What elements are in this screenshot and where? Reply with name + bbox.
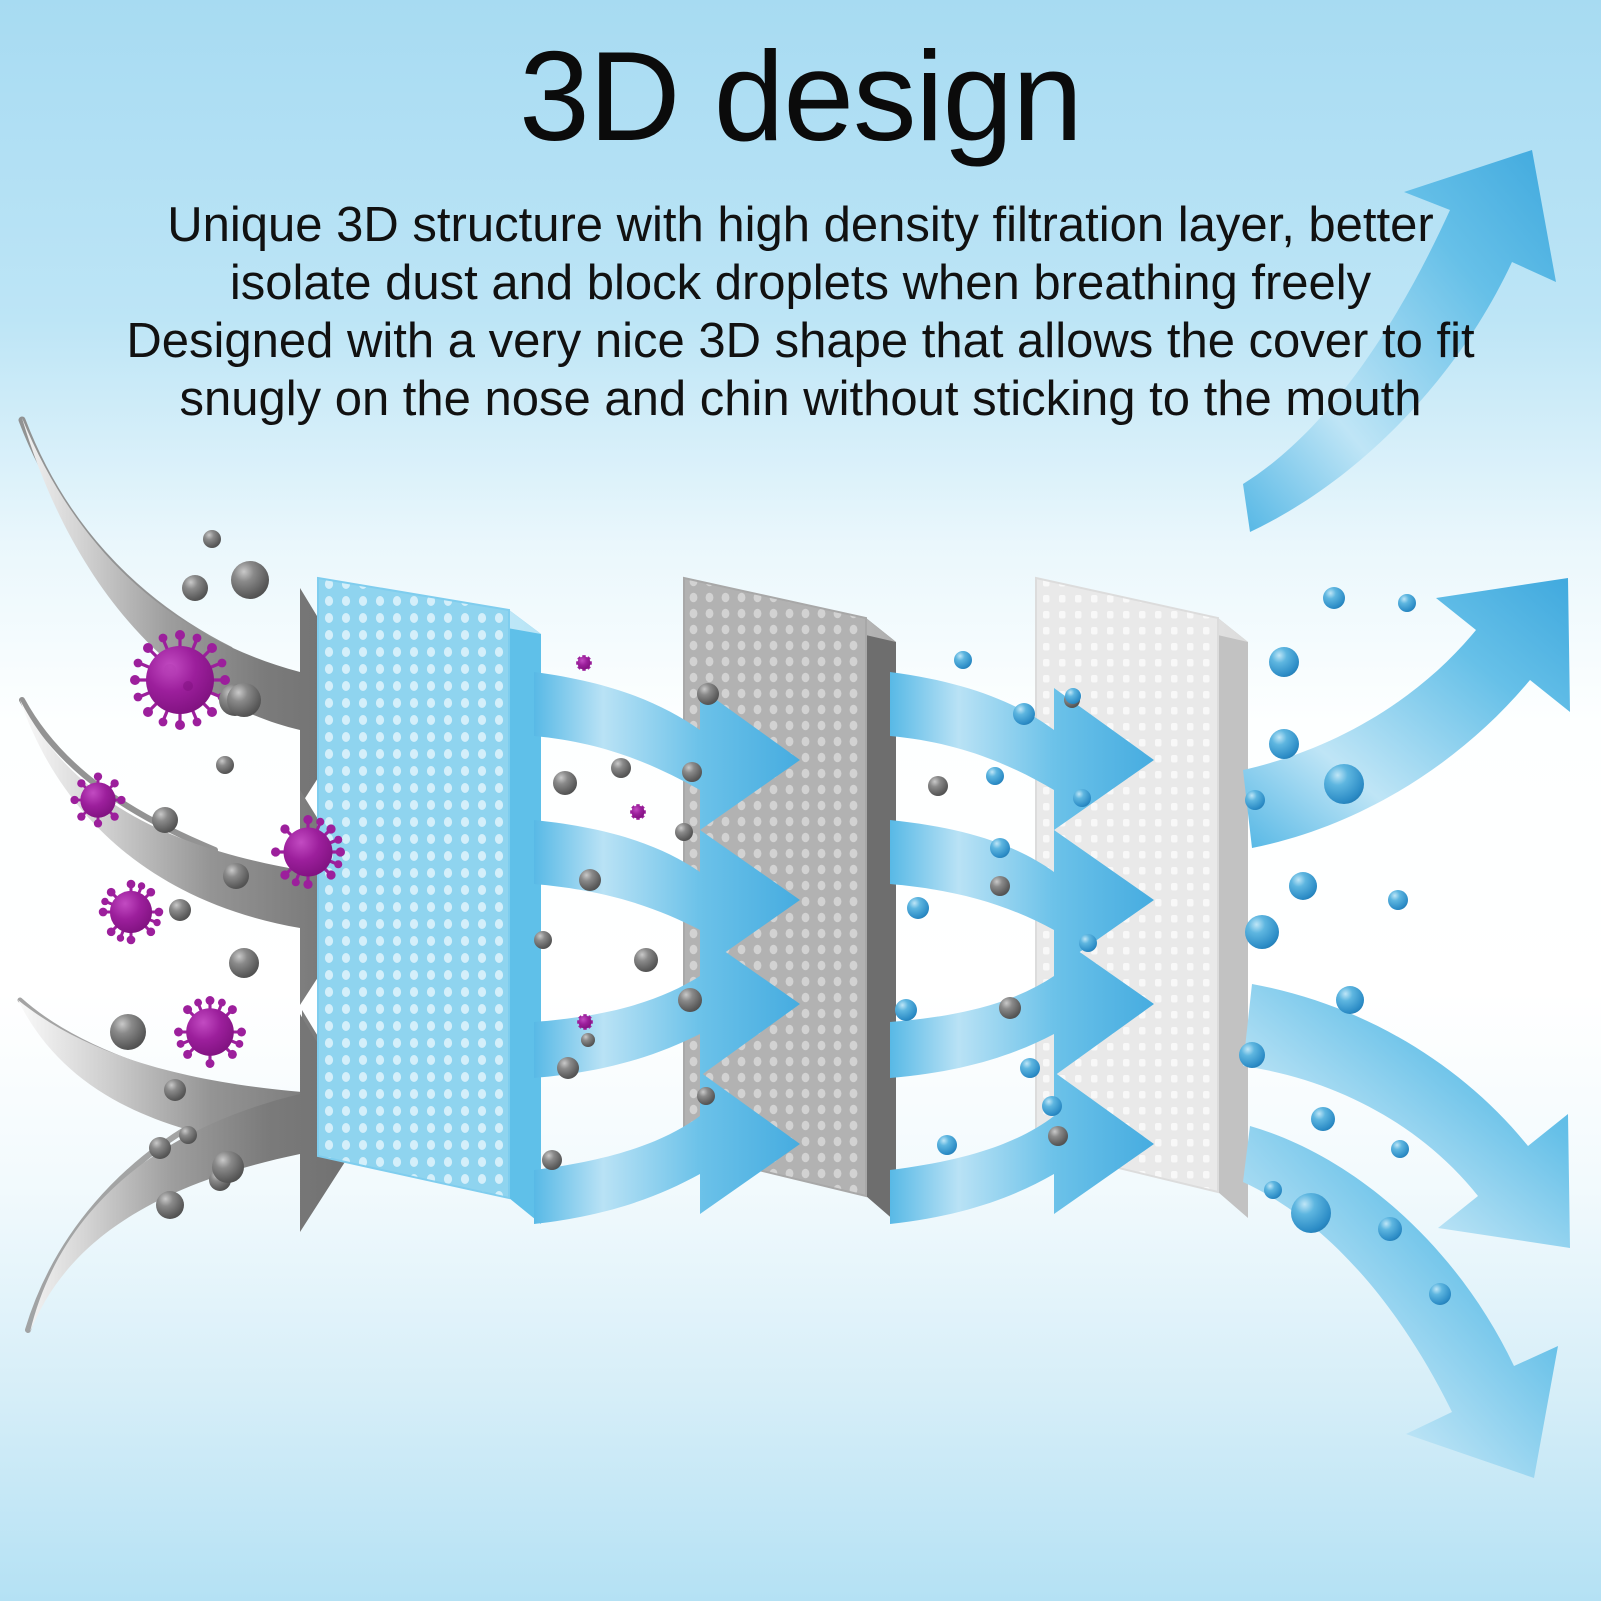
dust-particle bbox=[675, 823, 693, 841]
dust-particle bbox=[557, 1057, 579, 1079]
dust-particle bbox=[229, 948, 259, 978]
dust-particle bbox=[611, 758, 631, 778]
dust-particle bbox=[990, 876, 1010, 896]
dust-particle bbox=[223, 863, 249, 889]
dust-particle bbox=[697, 683, 719, 705]
droplet-particle bbox=[1013, 703, 1035, 725]
dust-particle bbox=[542, 1150, 562, 1170]
droplet-particle bbox=[1398, 594, 1416, 612]
dust-particle bbox=[152, 807, 178, 833]
droplet-particle bbox=[990, 838, 1010, 858]
virus-particle bbox=[271, 815, 345, 889]
droplet-particle bbox=[1020, 1058, 1040, 1078]
dust-particle bbox=[227, 683, 261, 717]
droplet-particle bbox=[1429, 1283, 1451, 1305]
droplet-particle bbox=[1269, 647, 1299, 677]
dust-particle bbox=[534, 931, 552, 949]
droplet-particle bbox=[895, 999, 917, 1021]
droplet-particle bbox=[1245, 790, 1265, 810]
dust-particle bbox=[928, 776, 948, 796]
page-title: 3D design bbox=[0, 30, 1601, 163]
virus-particle bbox=[70, 772, 125, 827]
droplet-particle bbox=[1323, 587, 1345, 609]
dust-particle bbox=[169, 899, 191, 921]
dust-particle bbox=[216, 756, 234, 774]
droplet-particle bbox=[1311, 1107, 1335, 1131]
infographic-root: 3D design Unique 3D structure with high … bbox=[0, 0, 1601, 1601]
subtitle-line-4: snugly on the nose and chin without stic… bbox=[0, 370, 1601, 428]
droplet-particle bbox=[1079, 934, 1097, 952]
dust-particle bbox=[581, 1033, 595, 1047]
droplet-particle bbox=[1042, 1096, 1062, 1116]
dust-particle bbox=[697, 1087, 715, 1105]
dust-particle bbox=[203, 530, 221, 548]
droplet-particle bbox=[954, 651, 972, 669]
virus-particle bbox=[174, 996, 246, 1068]
droplet-particle bbox=[1289, 872, 1317, 900]
droplet-particle bbox=[1073, 789, 1091, 807]
dust-particle bbox=[579, 869, 601, 891]
dust-particle bbox=[179, 1126, 197, 1144]
droplet-particle bbox=[1336, 986, 1364, 1014]
dust-particle bbox=[149, 1137, 171, 1159]
droplet-particle bbox=[1291, 1193, 1331, 1233]
dust-particle bbox=[110, 1014, 146, 1050]
subtitle-line-3: Designed with a very nice 3D shape that … bbox=[0, 312, 1601, 370]
virus-particle bbox=[99, 880, 163, 944]
dust-particle bbox=[1048, 1126, 1068, 1146]
dust-particle bbox=[634, 948, 658, 972]
virus-particle-small bbox=[577, 1014, 593, 1030]
page-subtitle: Unique 3D structure with high density fi… bbox=[0, 196, 1601, 428]
droplet-particle bbox=[907, 897, 929, 919]
exit-arrow-2 bbox=[1243, 578, 1570, 848]
dust-particle bbox=[682, 762, 702, 782]
droplet-particle bbox=[1391, 1140, 1409, 1158]
layer-3-side-face bbox=[1218, 618, 1248, 1218]
filter-layer-1-blue bbox=[318, 578, 541, 1224]
droplet-particle bbox=[1324, 764, 1364, 804]
subtitle-line-1: Unique 3D structure with high density fi… bbox=[0, 196, 1601, 254]
dust-particle bbox=[164, 1079, 186, 1101]
droplet-particle bbox=[1269, 729, 1299, 759]
droplet-particle bbox=[1378, 1217, 1402, 1241]
dust-particle bbox=[156, 1191, 184, 1219]
droplet-particle bbox=[1388, 890, 1408, 910]
droplet-particle bbox=[1245, 915, 1279, 949]
intake-arrow-1 bbox=[22, 418, 368, 806]
virus-particle bbox=[130, 630, 230, 730]
dust-particle bbox=[182, 575, 208, 601]
droplet-particle bbox=[986, 767, 1004, 785]
dust-particle bbox=[999, 997, 1021, 1019]
dust-particle bbox=[212, 1151, 244, 1183]
droplet-particle bbox=[937, 1135, 957, 1155]
dust-particle bbox=[553, 771, 577, 795]
virus-particle-small bbox=[576, 655, 592, 671]
dust-particle bbox=[678, 988, 702, 1012]
virus-particle-small bbox=[630, 804, 646, 820]
droplet-particle bbox=[1065, 688, 1081, 704]
droplet-particle bbox=[1264, 1181, 1282, 1199]
droplet-particle bbox=[1239, 1042, 1265, 1068]
subtitle-line-2: isolate dust and block droplets when bre… bbox=[0, 254, 1601, 312]
dust-particle bbox=[231, 561, 269, 599]
